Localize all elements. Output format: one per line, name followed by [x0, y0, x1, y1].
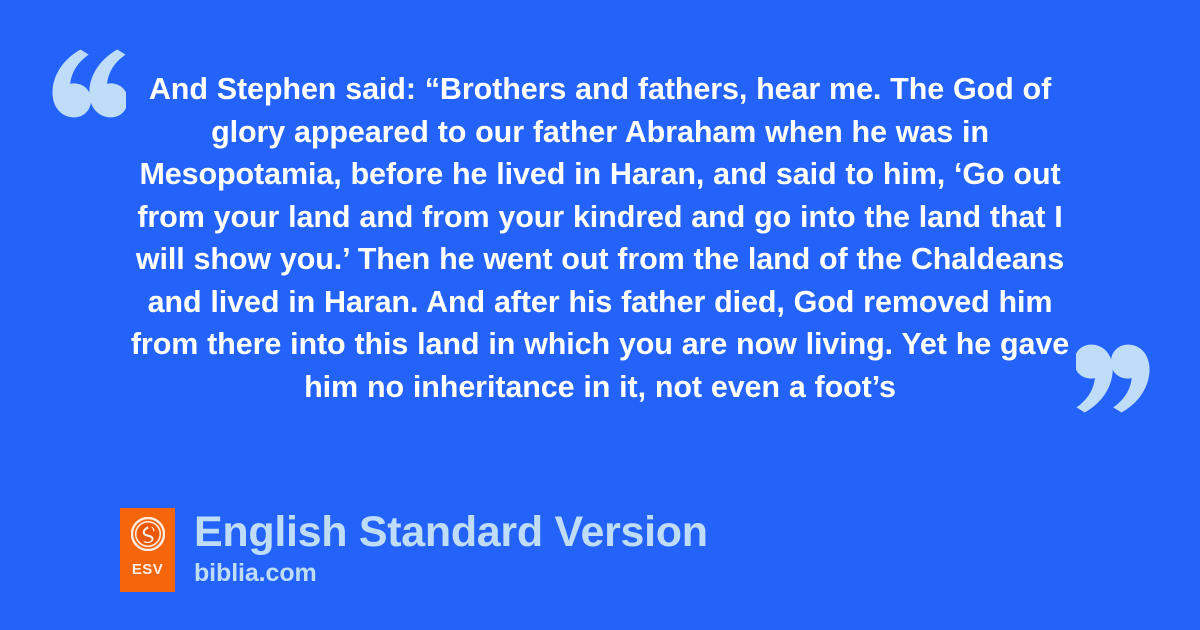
site-url-label: biblia.com	[194, 559, 708, 587]
esv-logo-badge: ESV	[120, 508, 175, 592]
esv-abbreviation-label: ESV	[132, 562, 163, 577]
verse-text: And Stephen said: “Brothers and fathers,…	[110, 68, 1090, 408]
bible-version-name: English Standard Version	[194, 509, 708, 556]
verse-quote-card: And Stephen said: “Brothers and fathers,…	[0, 0, 1200, 630]
esv-seal-icon	[131, 517, 165, 551]
verse-text-container: And Stephen said: “Brothers and fathers,…	[0, 68, 1200, 408]
attribution-text-group: English Standard Version biblia.com	[194, 508, 708, 587]
attribution-footer: ESV English Standard Version biblia.com	[120, 508, 708, 592]
